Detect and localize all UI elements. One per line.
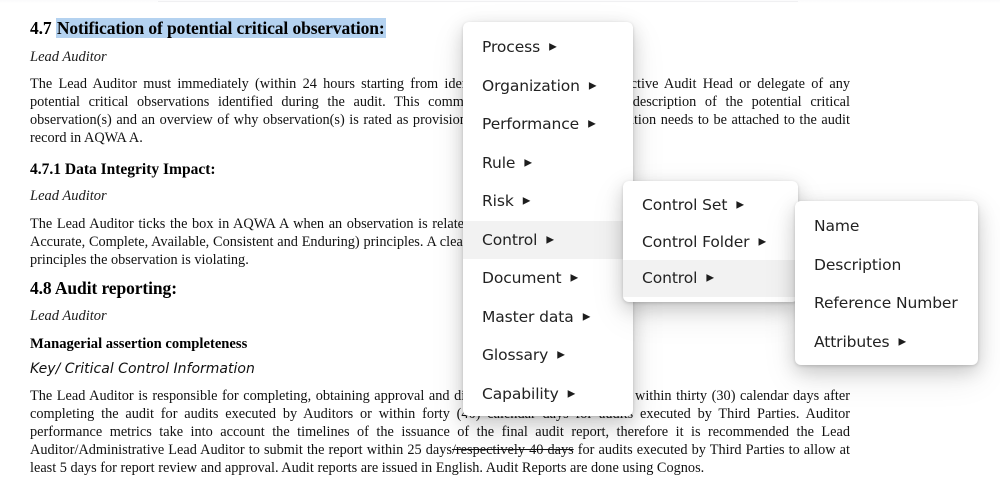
menu-item-label: Capability (482, 385, 559, 403)
menu-item-control-leaf[interactable]: Control ▶ (623, 260, 798, 297)
menu-item-label: Description (814, 256, 901, 274)
menu-item-master-data[interactable]: Master data ▶ (463, 298, 633, 337)
menu-item-label: Attributes (814, 333, 890, 351)
menu-item-label: Control (482, 231, 537, 249)
menu-item-rule[interactable]: Rule ▶ (463, 144, 633, 183)
chevron-right-icon: ▶ (571, 274, 579, 284)
chevron-right-icon: ▶ (736, 201, 744, 211)
menu-item-performance[interactable]: Performance ▶ (463, 105, 633, 144)
chevron-right-icon: ▶ (546, 235, 554, 245)
menu-item-control-set[interactable]: Control Set ▶ (623, 187, 798, 224)
paragraph-4-8: The Lead Auditor is responsible for comp… (30, 388, 850, 478)
menu-item-organization[interactable]: Organization ▶ (463, 67, 633, 106)
context-menu-level-3[interactable]: Name Description Reference Number Attrib… (795, 201, 978, 365)
menu-item-document[interactable]: Document ▶ (463, 259, 633, 298)
menu-item-name[interactable]: Name (795, 207, 978, 246)
paragraph-4-8-strikethrough: /respectively 40 days (452, 442, 574, 458)
menu-item-label: Master data (482, 308, 574, 326)
context-menu-level-1[interactable]: Process ▶ Organization ▶ Performance ▶ R… (463, 22, 633, 416)
menu-item-capability[interactable]: Capability ▶ (463, 375, 633, 414)
section-title-highlight-4-7: Notification of potential critical obser… (56, 18, 386, 38)
menu-item-label: Control Folder (642, 233, 749, 251)
context-menu-level-2[interactable]: Control Set ▶ Control Folder ▶ Control ▶ (623, 181, 798, 302)
menu-item-process[interactable]: Process ▶ (463, 28, 633, 67)
menu-item-control[interactable]: Control ▶ (463, 221, 633, 260)
menu-item-label: Name (814, 217, 859, 235)
menu-item-control-folder[interactable]: Control Folder ▶ (623, 224, 798, 261)
menu-item-label: Control Set (642, 196, 727, 214)
menu-item-attributes[interactable]: Attributes ▶ (795, 323, 978, 362)
menu-item-label: Rule (482, 154, 515, 172)
chevron-right-icon: ▶ (588, 120, 596, 130)
menu-item-label: Control (642, 269, 697, 287)
chevron-right-icon: ▶ (899, 337, 907, 347)
menu-item-label: Reference Number (814, 294, 958, 312)
chevron-right-icon: ▶ (568, 389, 576, 399)
chevron-right-icon: ▶ (523, 197, 531, 207)
chevron-right-icon: ▶ (758, 237, 766, 247)
menu-item-reference-number[interactable]: Reference Number (795, 284, 978, 323)
menu-item-description[interactable]: Description (795, 246, 978, 285)
chevron-right-icon: ▶ (583, 312, 591, 322)
section-number-4-7: 4.7 (30, 18, 52, 38)
menu-item-label: Glossary (482, 346, 548, 364)
menu-item-risk[interactable]: Risk ▶ (463, 182, 633, 221)
menu-item-label: Organization (482, 77, 580, 95)
menu-item-label: Process (482, 38, 540, 56)
chevron-right-icon: ▶ (524, 158, 532, 168)
menu-item-label: Performance (482, 115, 579, 133)
menu-item-label: Risk (482, 192, 514, 210)
menu-item-label: Document (482, 269, 562, 287)
chevron-right-icon: ▶ (549, 43, 557, 53)
paragraph-4-7: The Lead Auditor must immediately (withi… (30, 76, 850, 148)
menu-item-glossary[interactable]: Glossary ▶ (463, 336, 633, 375)
chevron-right-icon: ▶ (557, 351, 565, 361)
chevron-right-icon: ▶ (706, 274, 714, 284)
chevron-right-icon: ▶ (589, 81, 597, 91)
